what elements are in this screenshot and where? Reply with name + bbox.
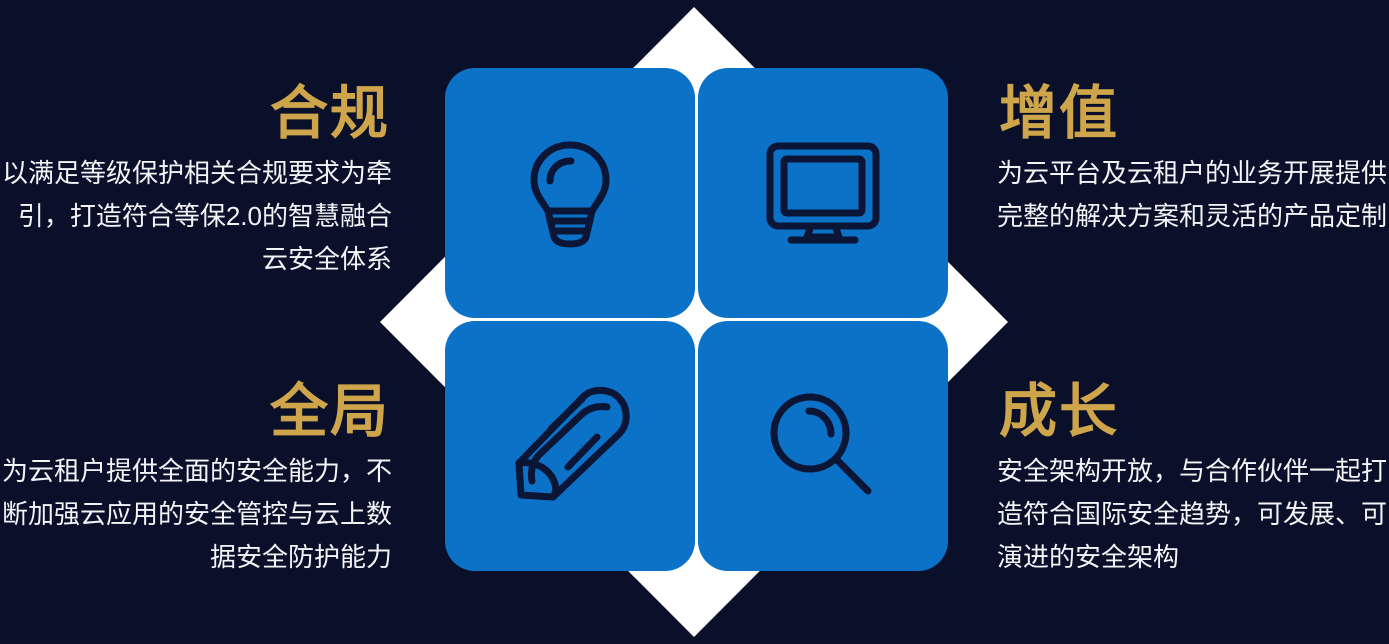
tile-global[interactable] bbox=[445, 321, 695, 571]
tile-compliance[interactable] bbox=[445, 68, 695, 318]
quadrant-body-compliance: 以满足等级保护相关合规要求为牵引，打造符合等保2.0的智慧融合云安全体系 bbox=[0, 152, 400, 281]
infographic-canvas: 合规 以满足等级保护相关合规要求为牵引，打造符合等保2.0的智慧融合云安全体系 … bbox=[0, 0, 1389, 644]
icon-tile-grid bbox=[445, 68, 948, 576]
tile-value[interactable] bbox=[698, 68, 948, 318]
lightbulb-icon bbox=[522, 137, 618, 249]
quadrant-body-value: 为云平台及云租户的业务开展提供完整的解决方案和灵活的产品定制 bbox=[989, 152, 1389, 238]
quadrant-compliance: 合规 以满足等级保护相关合规要求为牵引，打造符合等保2.0的智慧融合云安全体系 bbox=[0, 82, 400, 281]
quadrant-growth: 成长 安全架构开放，与合作伙伴一起打造符合国际安全趋势，可发展、可演进的安全架构 bbox=[989, 380, 1389, 579]
quadrant-body-growth: 安全架构开放，与合作伙伴一起打造符合国际安全趋势，可发展、可演进的安全架构 bbox=[989, 450, 1389, 579]
quadrant-heading-value: 增值 bbox=[989, 82, 1389, 146]
quadrant-heading-global: 全局 bbox=[0, 380, 400, 444]
quadrant-heading-compliance: 合规 bbox=[0, 82, 400, 146]
monitor-icon bbox=[765, 141, 881, 245]
quadrant-heading-growth: 成长 bbox=[989, 380, 1389, 444]
magnifier-icon bbox=[768, 391, 878, 501]
pencil-icon bbox=[511, 387, 629, 505]
quadrant-body-global: 为云租户提供全面的安全能力，不断加强云应用的安全管控与云上数据安全防护能力 bbox=[0, 450, 400, 579]
quadrant-global: 全局 为云租户提供全面的安全能力，不断加强云应用的安全管控与云上数据安全防护能力 bbox=[0, 380, 400, 579]
quadrant-value: 增值 为云平台及云租户的业务开展提供完整的解决方案和灵活的产品定制 bbox=[989, 82, 1389, 238]
tile-growth[interactable] bbox=[698, 321, 948, 571]
